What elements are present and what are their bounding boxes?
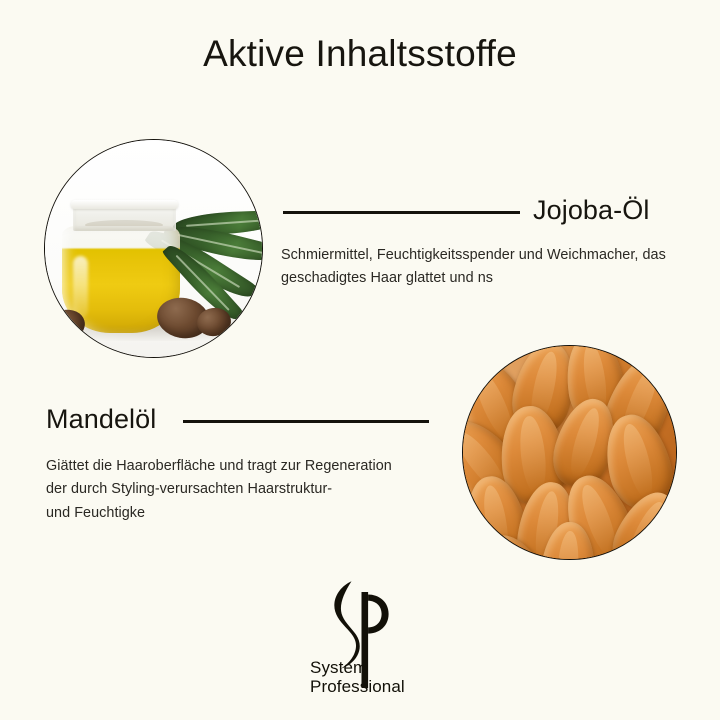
jojoba-oil-image (44, 139, 263, 358)
almond-scene (462, 345, 677, 560)
jojoba-description-line: Schmiermittel, Feuchtigkeitsspender und … (281, 244, 711, 267)
brand-logo: System Professional (295, 578, 427, 704)
poster-canvas: Aktive Inhaltsstoffe Jojoba-Öl Schmiermi… (0, 0, 720, 720)
almond-image (462, 345, 677, 560)
almond-description-line: und Feuchtigke (46, 502, 446, 525)
brand-wordmark-line2: Professional (310, 677, 405, 696)
page-title: Aktive Inhaltsstoffe (0, 33, 720, 76)
jojoba-heading: Jojoba-Öl (533, 197, 649, 224)
jojoba-scene (45, 140, 262, 357)
almond-divider-rule (183, 420, 429, 423)
brand-wordmark-line1: System (310, 658, 405, 677)
almond-description-line: Giättet die Haaroberfläche und tragt zur… (46, 455, 446, 478)
almond-description: Giättet die Haaroberfläche und tragt zur… (46, 455, 446, 525)
brand-wordmark: System Professional (310, 658, 405, 696)
almond-heading: Mandelöl (46, 406, 156, 433)
jar-rim (71, 200, 178, 209)
almond-description-line: der durch Styling-verursachten Haarstruk… (46, 478, 446, 501)
jojoba-description: Schmiermittel, Feuchtigkeitsspender und … (281, 244, 711, 291)
jojoba-description-line: geschadigtes Haar glattet und ns (281, 267, 711, 290)
jojoba-divider-rule (283, 211, 520, 214)
